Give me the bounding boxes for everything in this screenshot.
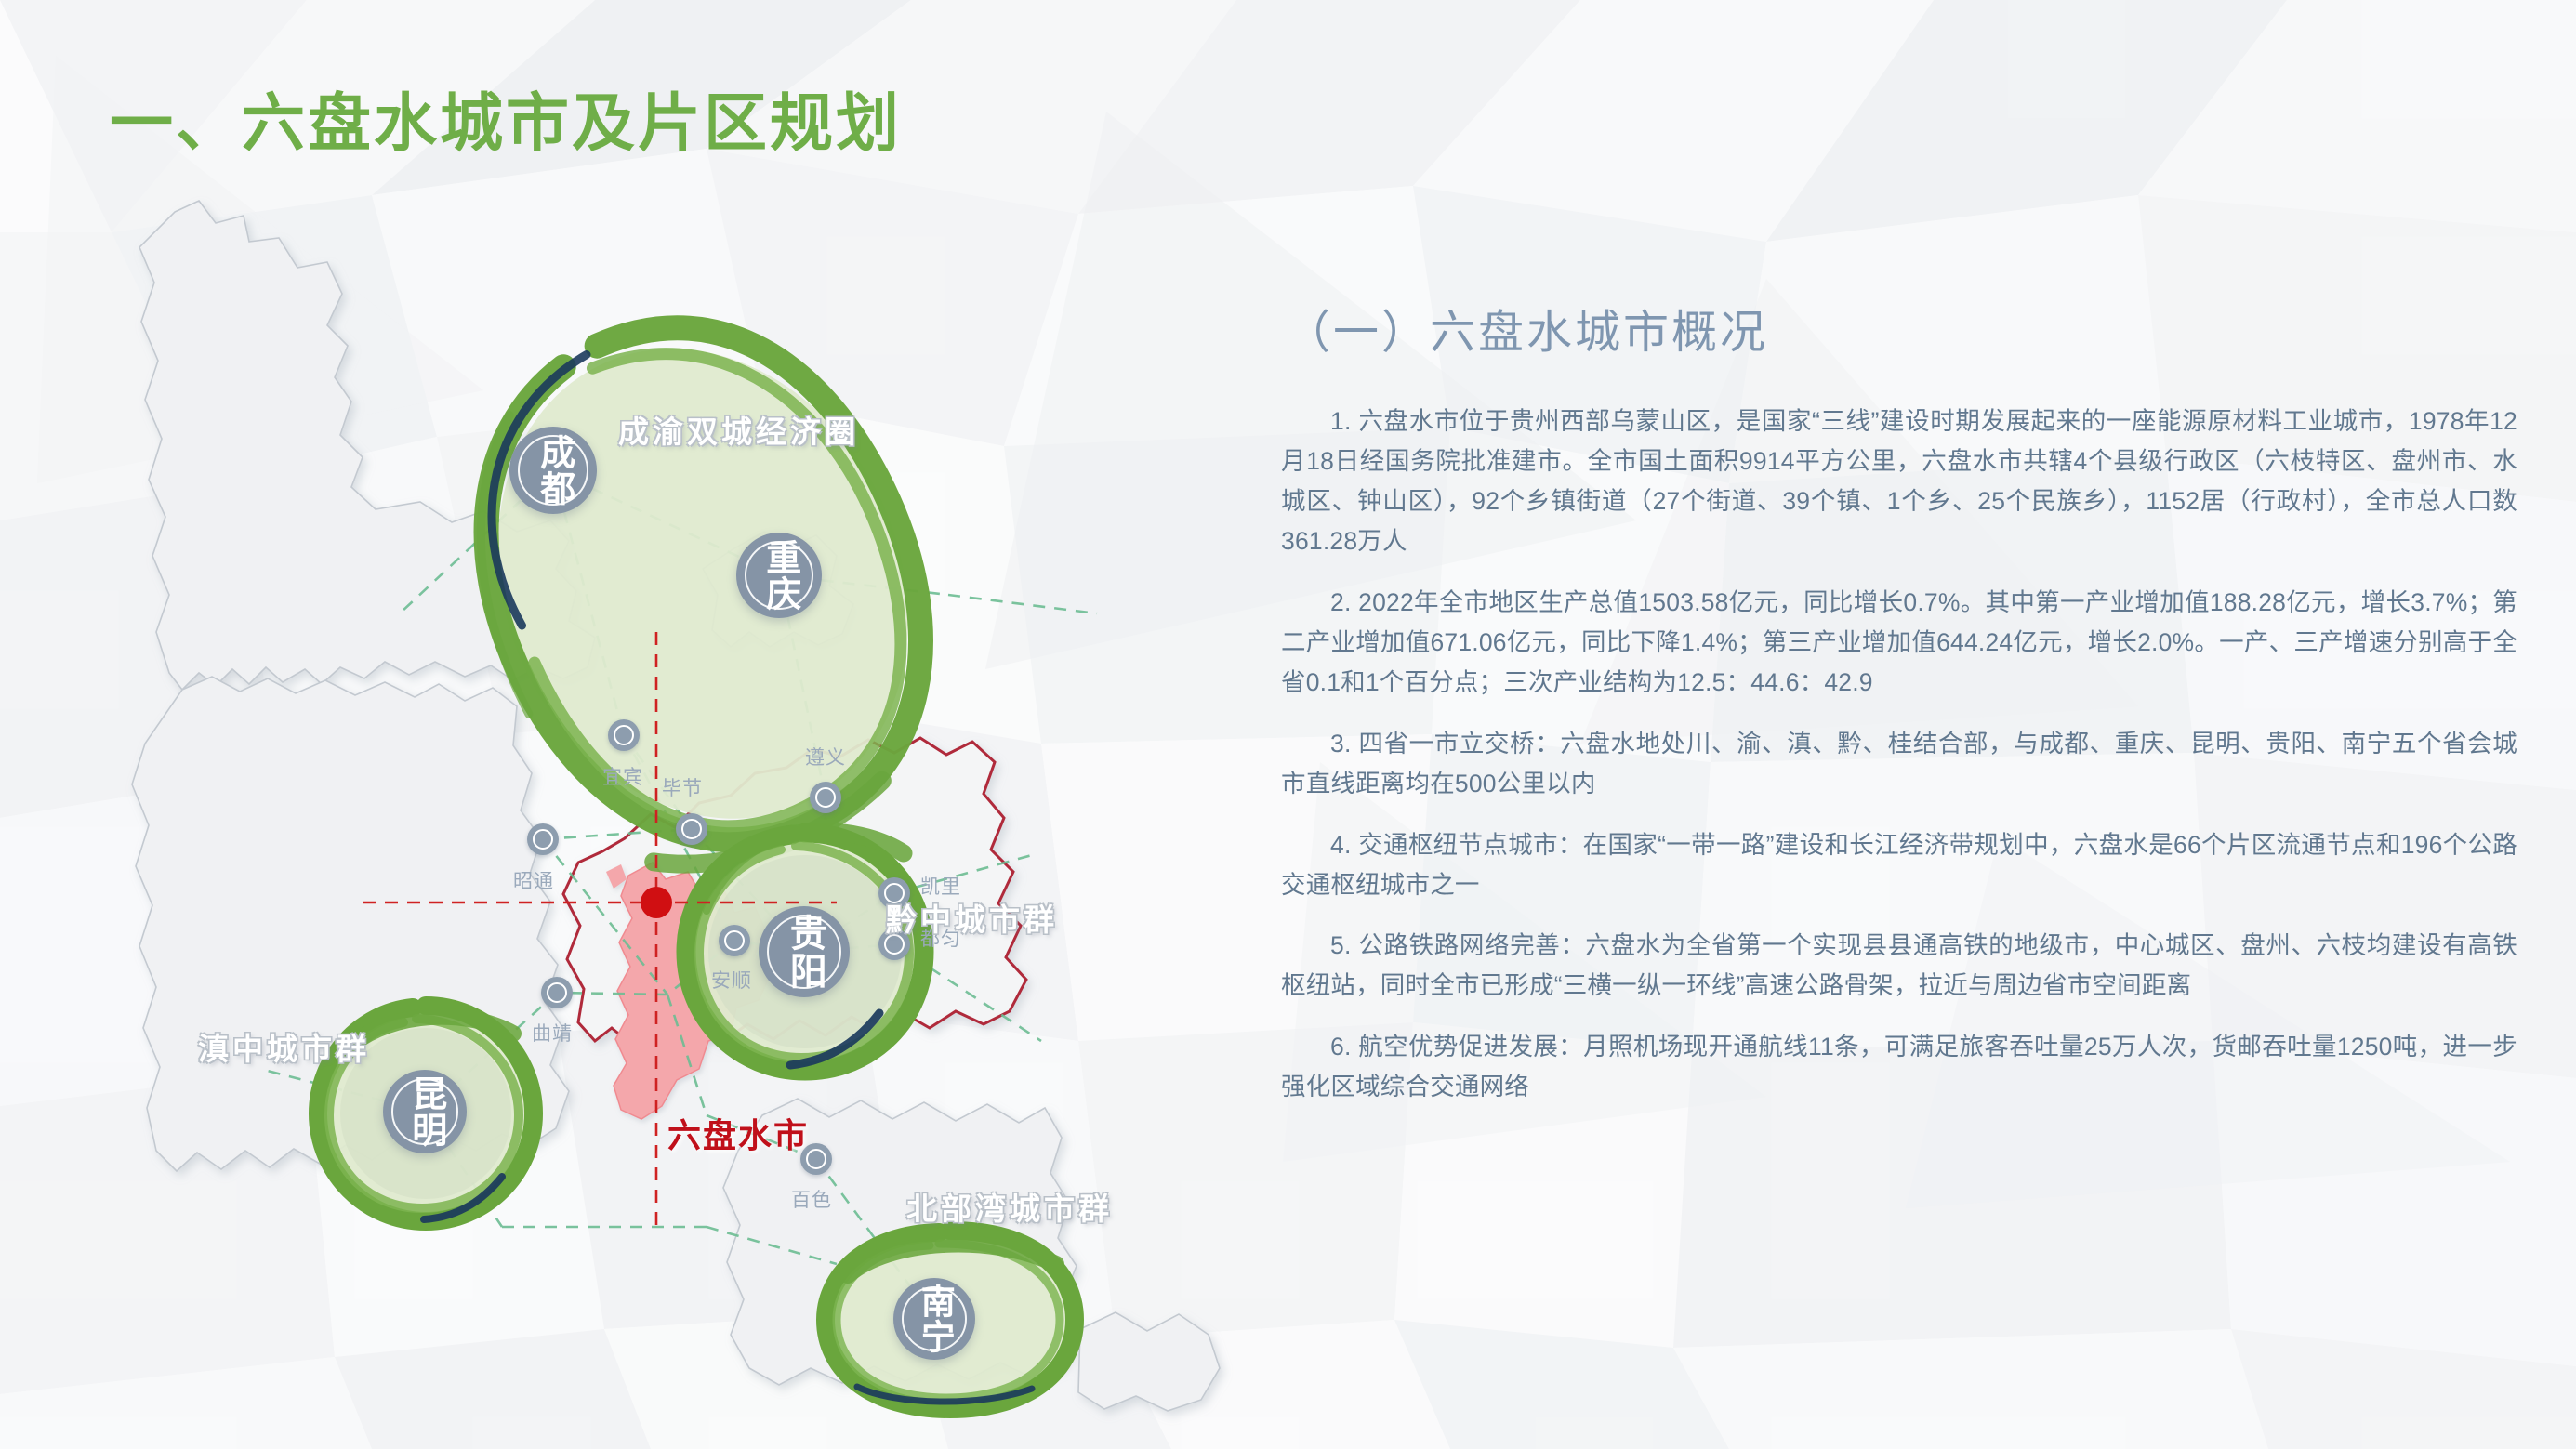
- cluster-label-dianzhong: 滇中城市群: [198, 1024, 370, 1069]
- city-node-bijie-label: 毕节: [662, 773, 703, 801]
- city-node-zunyi[interactable]: [810, 782, 841, 813]
- city-node-anshun[interactable]: [719, 925, 750, 956]
- city-marker-chongqing[interactable]: 重庆: [736, 533, 822, 618]
- city-marker-chongqing-label: 重庆: [760, 539, 798, 612]
- overview-paragraph-6: 6. 航空优势促进发展：月照机场现开通航线11条，可满足旅客吞吐量25万人次，货…: [1281, 1027, 2517, 1107]
- page-title-text: 一、六盘水城市及片区规划: [110, 89, 902, 159]
- region-map: 成都 重庆 贵阳 昆明 南宁 宜宾 遵义 毕节 昭通 凯里 都匀 安顺 曲靖: [0, 112, 1301, 1431]
- city-node-zhaotong-label: 昭通: [513, 866, 554, 894]
- city-node-yibin-label: 宜宾: [602, 762, 643, 790]
- city-marker-kunming[interactable]: 昆明: [383, 1070, 467, 1153]
- page-title: 一、六盘水城市及片区规划: [110, 89, 902, 159]
- city-marker-chengdu[interactable]: 成都: [509, 427, 597, 514]
- overview-text-panel: （一）六盘水城市概况 1. 六盘水市位于贵州西部乌蒙山区，是国家“三线”建设时期…: [1281, 307, 2517, 1128]
- map-vector-layer: [0, 112, 1301, 1431]
- city-node-anshun-label: 安顺: [711, 966, 752, 994]
- city-node-yibin[interactable]: [608, 719, 640, 751]
- city-node-zunyi-label: 遵义: [805, 743, 846, 771]
- city-marker-guiyang-label: 贵阳: [785, 914, 824, 990]
- slide-root: 一、六盘水城市及片区规划: [0, 0, 2576, 1449]
- focus-city-label: 六盘水市: [667, 1109, 809, 1157]
- overview-paragraph-2: 2. 2022年全市地区生产总值1503.58亿元，同比增长0.7%。其中第一产…: [1281, 583, 2517, 703]
- overview-paragraph-3: 3. 四省一市立交桥：六盘水地处川、渝、滇、黔、桂结合部，与成都、重庆、昆明、贵…: [1281, 724, 2517, 804]
- city-node-baise-label: 百色: [791, 1185, 832, 1213]
- city-node-bijie[interactable]: [676, 813, 707, 845]
- cluster-label-chengyu: 成渝双城经济圈: [618, 407, 859, 452]
- city-marker-kunming-label: 昆明: [406, 1075, 443, 1148]
- city-marker-guiyang[interactable]: 贵阳: [759, 906, 850, 997]
- city-node-qujing-label: 曲靖: [532, 1019, 573, 1047]
- overview-paragraph-5: 5. 公路铁路网络完善：六盘水为全省第一个实现县县通高铁的地级市，中心城区、盘州…: [1281, 926, 2517, 1006]
- city-marker-chengdu-label: 成都: [535, 434, 572, 507]
- cluster-label-qianzhong: 黔中城市群: [886, 895, 1058, 940]
- cluster-label-beibuwan: 北部湾城市群: [906, 1184, 1113, 1229]
- city-node-zhaotong[interactable]: [527, 823, 559, 855]
- city-marker-nanning-label: 南宁: [917, 1284, 952, 1354]
- overview-paragraph-4: 4. 交通枢纽节点城市：在国家“一带一路”建设和长江经济带规划中，六盘水是66个…: [1281, 825, 2517, 905]
- city-node-qujing[interactable]: [541, 977, 573, 1008]
- focus-point-dot: [641, 887, 672, 918]
- section-heading: （一）六盘水城市概况: [1285, 307, 2517, 359]
- overview-paragraph-1: 1. 六盘水市位于贵州西部乌蒙山区，是国家“三线”建设时期发展起来的一座能源原材…: [1281, 402, 2517, 561]
- city-marker-nanning[interactable]: 南宁: [893, 1278, 975, 1360]
